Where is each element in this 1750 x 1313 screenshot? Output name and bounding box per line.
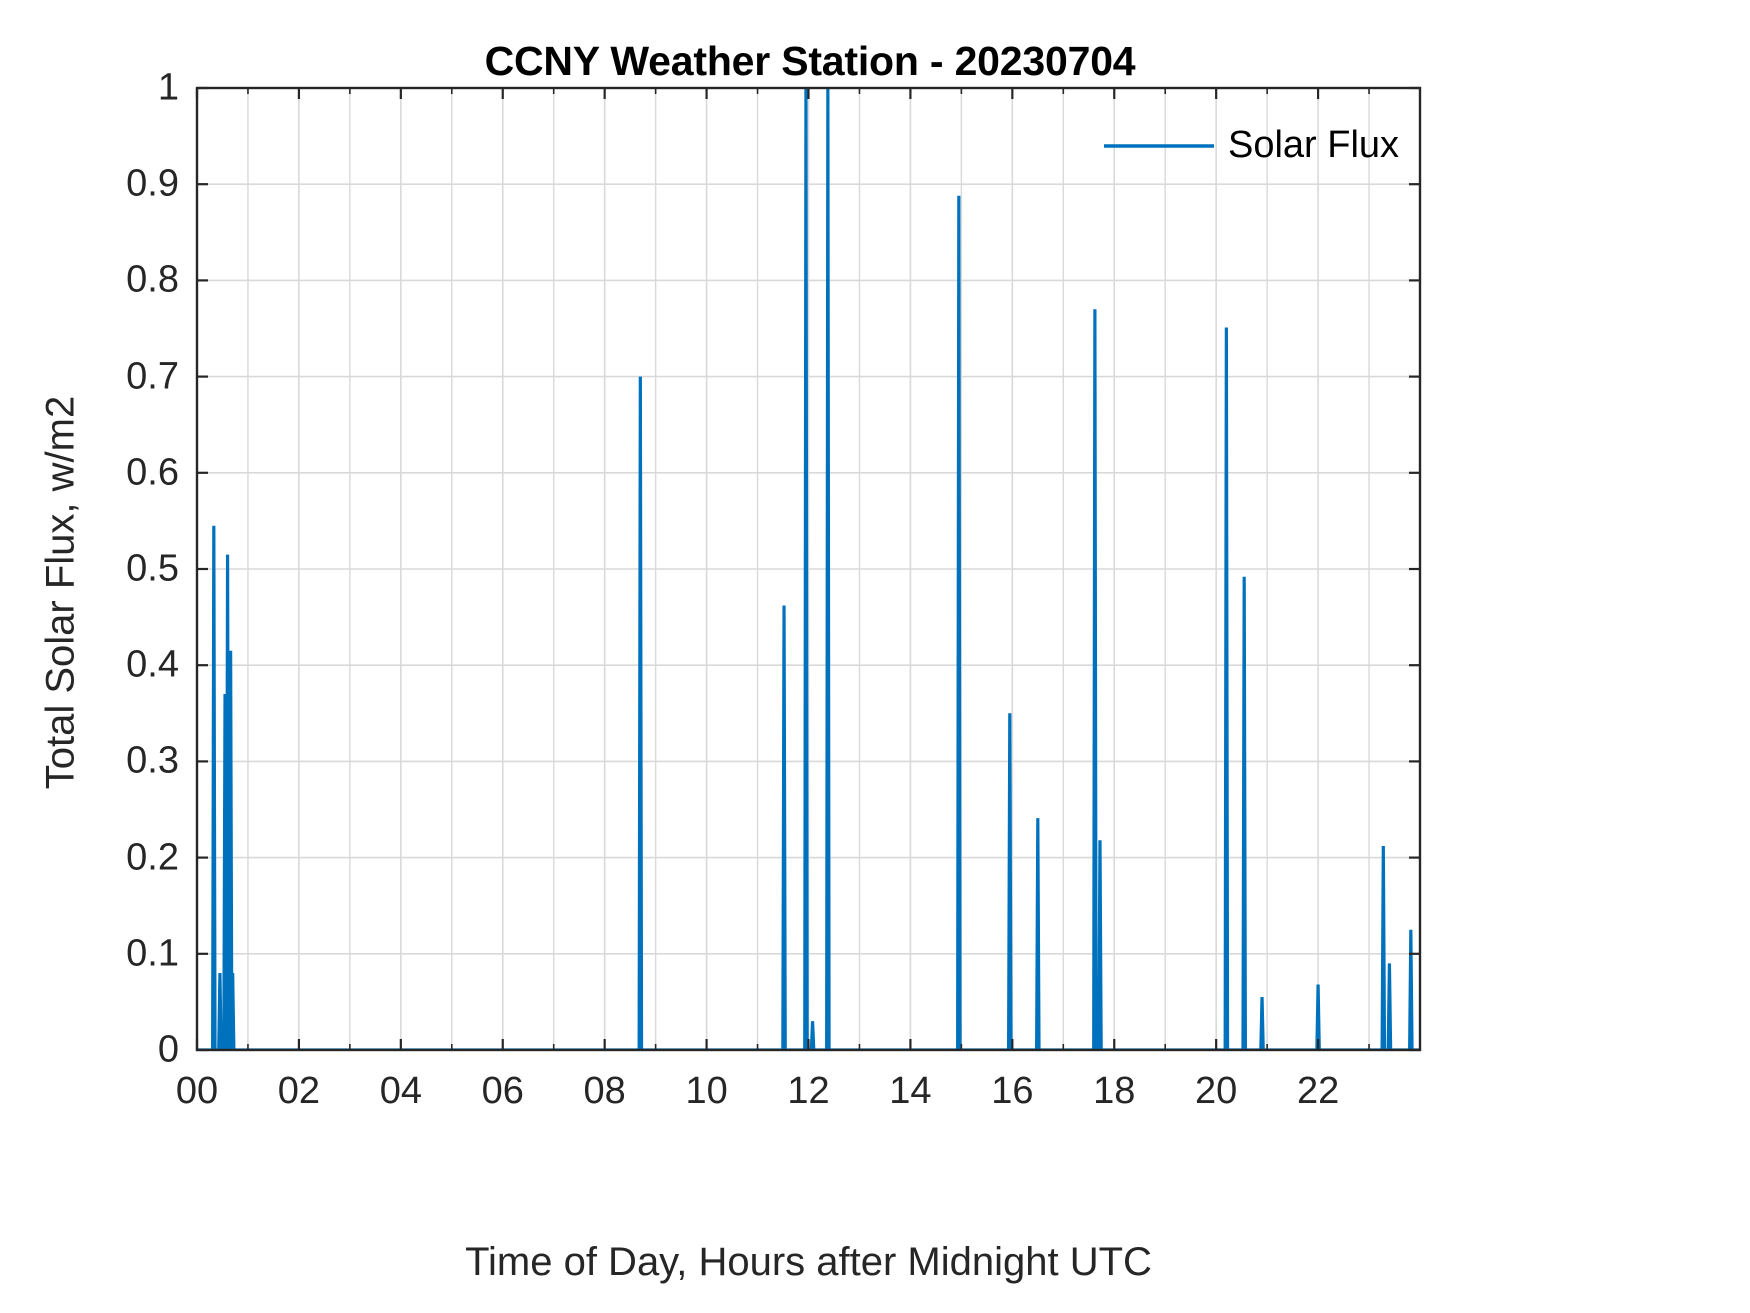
y-axis-tick-label: 0.9 xyxy=(126,163,179,206)
legend-entry-solar-flux: Solar Flux xyxy=(1228,124,1399,167)
y-axis-tick-label: 0.6 xyxy=(126,451,179,494)
x-axis-tick-label: 02 xyxy=(278,1070,320,1113)
x-axis-tick-label: 20 xyxy=(1195,1070,1237,1113)
y-axis-tick-label: 0.3 xyxy=(126,740,179,783)
y-axis-tick-label: 0.2 xyxy=(126,836,179,879)
x-axis-tick-label: 06 xyxy=(482,1070,524,1113)
y-axis-tick-label: 0.1 xyxy=(126,932,179,975)
x-axis-tick-label: 04 xyxy=(380,1070,422,1113)
x-axis-tick-label: 00 xyxy=(176,1070,218,1113)
x-axis-tick-label: 12 xyxy=(787,1070,829,1113)
plot-area xyxy=(0,0,1750,1313)
y-axis-tick-label: 0.5 xyxy=(126,548,179,591)
x-axis-tick-label: 08 xyxy=(584,1070,626,1113)
y-axis-tick-label: 1 xyxy=(158,67,179,110)
x-axis-tick-label: 18 xyxy=(1093,1070,1135,1113)
y-axis-tick-label: 0.4 xyxy=(126,644,179,687)
y-axis-tick-label: 0.8 xyxy=(126,259,179,302)
x-axis-tick-label: 14 xyxy=(889,1070,931,1113)
y-axis-tick-label: 0.7 xyxy=(126,355,179,398)
x-axis-label: Time of Day, Hours after Midnight UTC xyxy=(197,1240,1420,1285)
y-axis-label: Total Solar Flux, w/m2 xyxy=(39,363,84,823)
x-axis-tick-label: 22 xyxy=(1297,1070,1339,1113)
x-axis-tick-label: 16 xyxy=(991,1070,1033,1113)
figure-canvas: CCNY Weather Station - 20230704 Total So… xyxy=(0,0,1750,1313)
y-axis-tick-label: 0 xyxy=(158,1029,179,1072)
x-axis-tick-label: 10 xyxy=(685,1070,727,1113)
